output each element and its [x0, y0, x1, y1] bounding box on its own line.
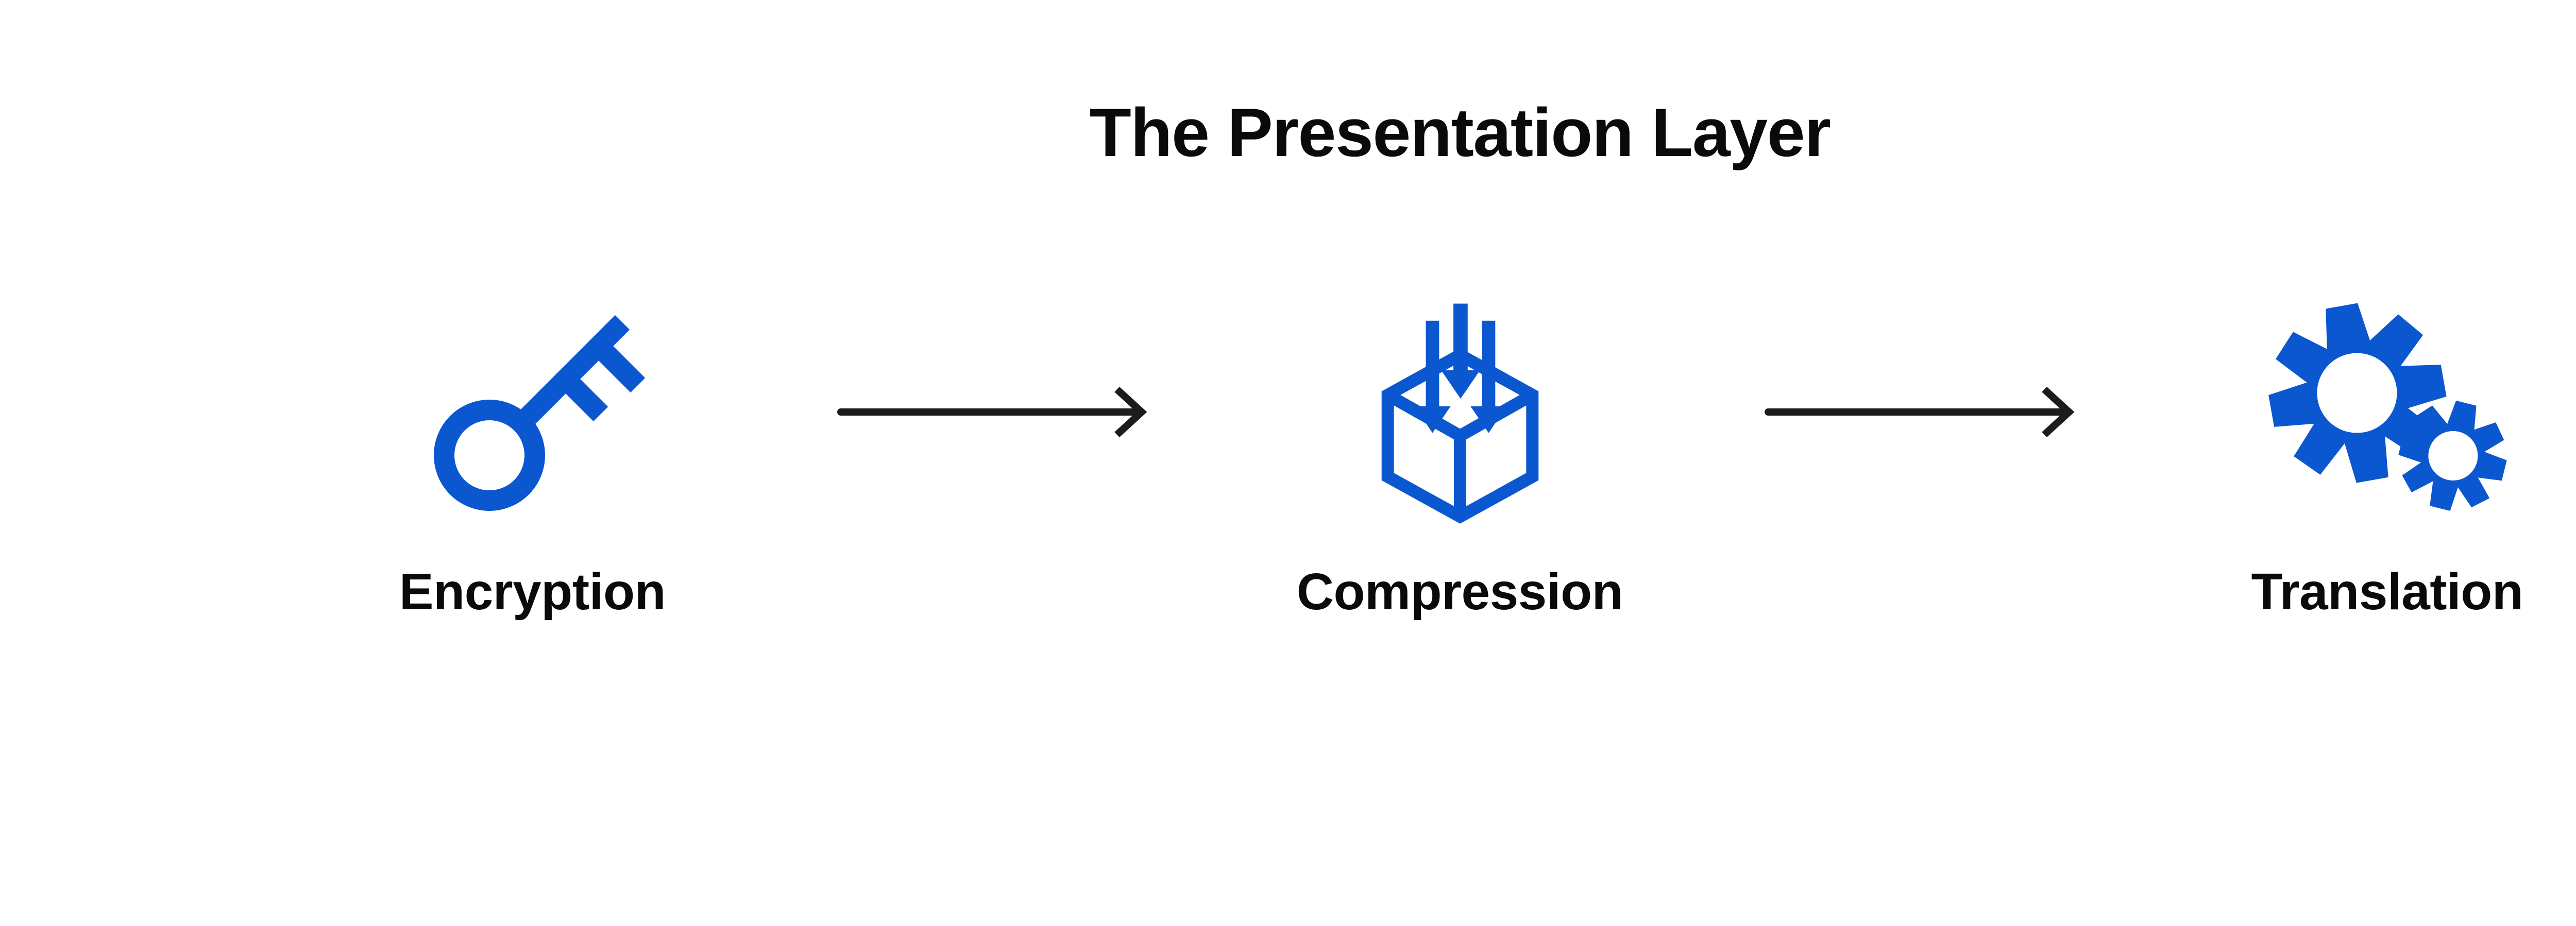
- gears-icon-glyph: [2264, 288, 2511, 536]
- flow-step-encryption: Encryption: [229, 288, 837, 622]
- diagram-canvas: The Presentation Layer Encryption: [0, 0, 2576, 926]
- flow-step-label: Encryption: [399, 562, 666, 622]
- presentation-layer-flow: Encryption: [0, 288, 2576, 803]
- key-icon-glyph: [409, 288, 656, 536]
- compression-box-icon: [1336, 288, 1584, 536]
- page-title: The Presentation Layer: [0, 95, 2576, 170]
- flow-step-compression: Compression: [1156, 288, 1764, 622]
- connector-1: [837, 288, 1156, 536]
- flow-step-label: Translation: [2251, 562, 2523, 622]
- arrow-right-icon: [1764, 381, 2083, 443]
- arrow-right-icon: [837, 381, 1156, 443]
- connector-2: [1764, 288, 2083, 536]
- key-icon: [409, 288, 656, 536]
- flow-step-label: Compression: [1297, 562, 1623, 622]
- gears-icon: [2264, 288, 2511, 536]
- compression-box-icon-glyph: [1336, 288, 1584, 536]
- cube-inner-edges: [1387, 395, 1532, 517]
- flow-step-translation: Translation: [2083, 288, 2576, 622]
